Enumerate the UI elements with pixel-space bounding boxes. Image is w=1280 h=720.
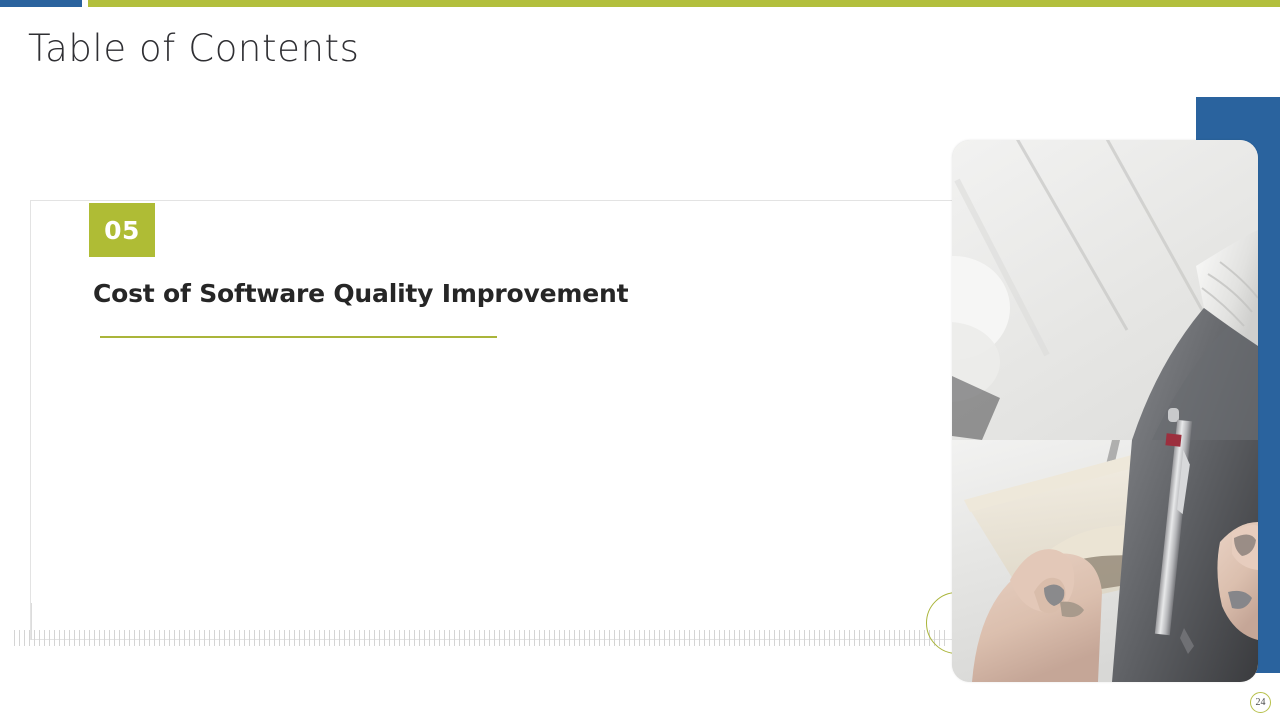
toc-entry-title: Cost of Software Quality Improvement	[93, 279, 628, 308]
toc-entry-card	[30, 200, 1030, 640]
toc-entry-underline	[100, 336, 497, 338]
slide-canvas: Table of Contents 05 Cost of Software Qu…	[0, 0, 1280, 720]
page-number-badge: 24	[1250, 692, 1271, 713]
decorative-photo	[952, 140, 1258, 682]
toc-entry-number-badge: 05	[89, 203, 155, 257]
bottom-ruler-ticks	[14, 630, 946, 646]
page-title: Table of Contents	[28, 27, 360, 70]
top-accent-bar-olive	[88, 0, 1280, 7]
top-accent-bar-blue	[0, 0, 82, 7]
